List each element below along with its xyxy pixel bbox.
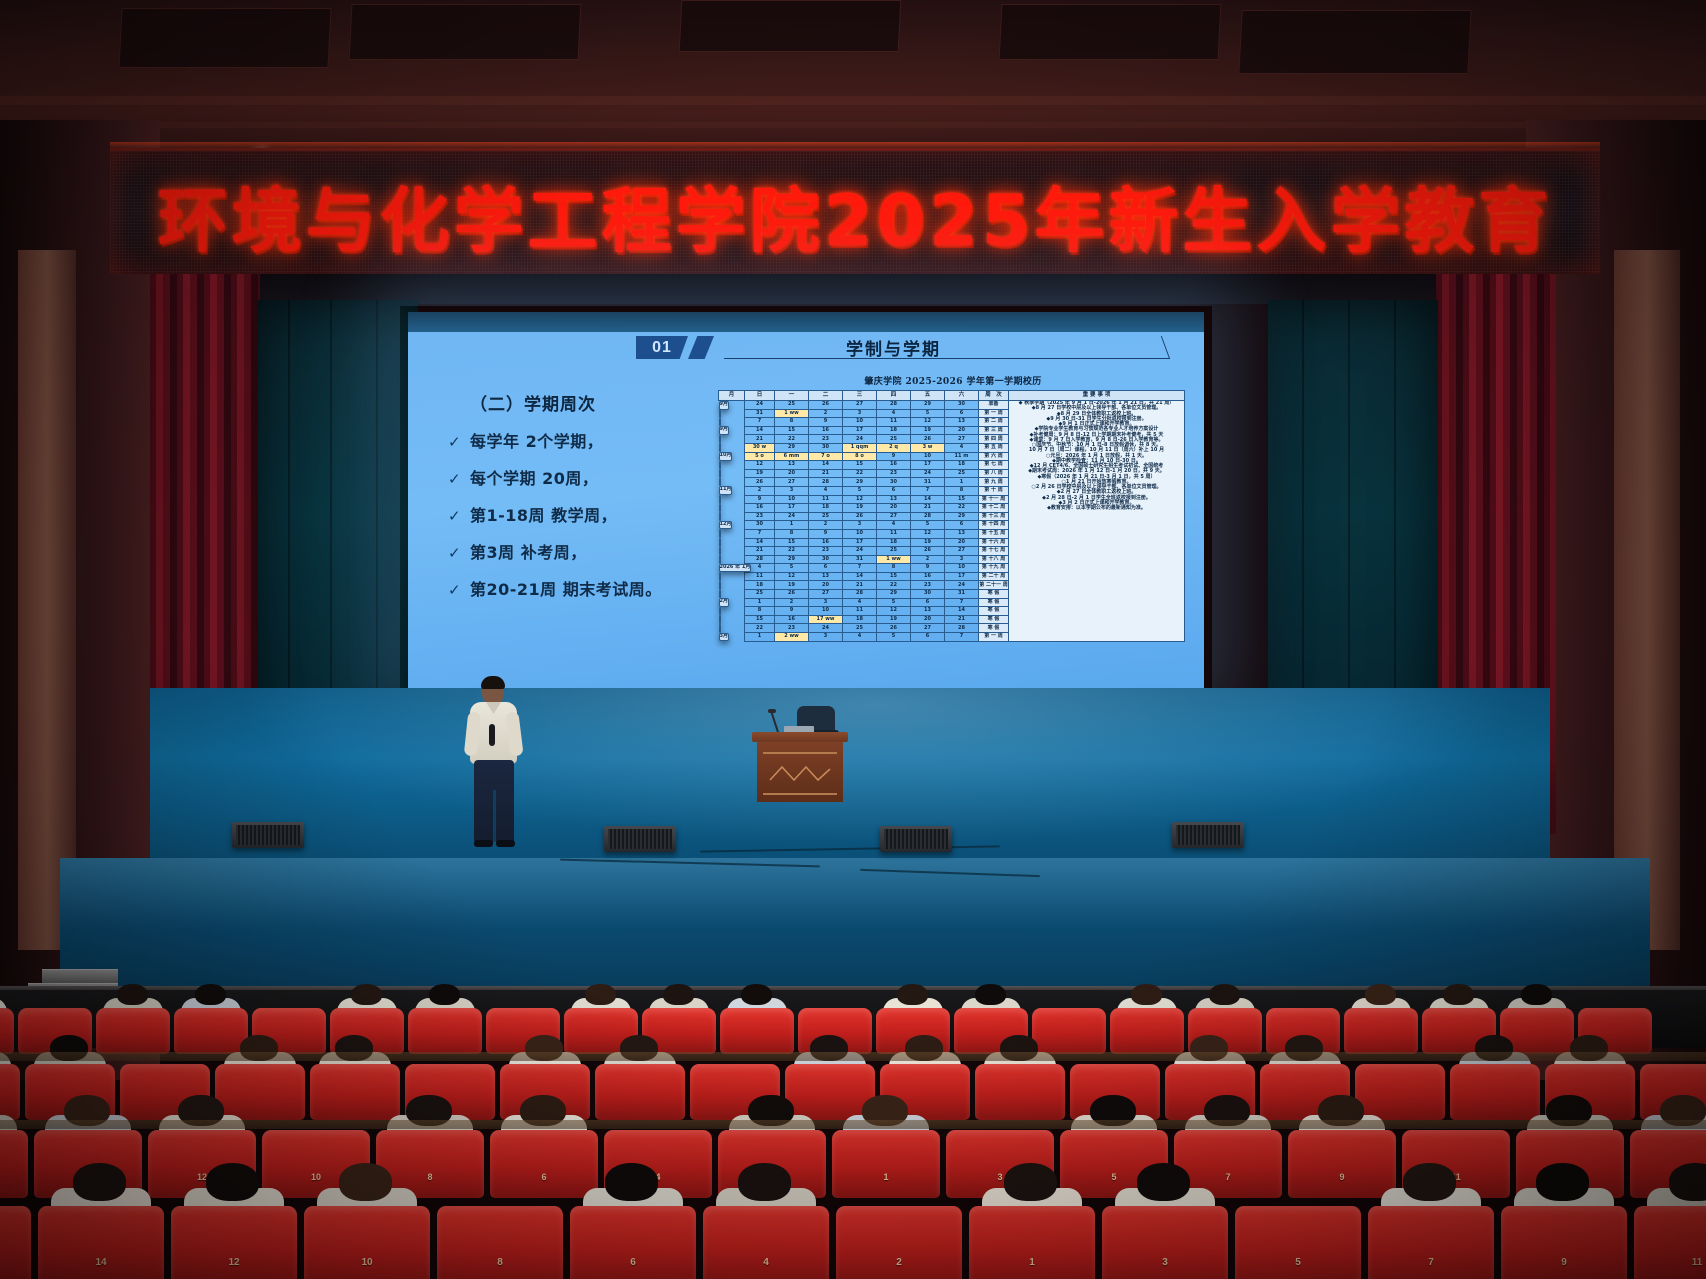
auditorium-seat[interactable]	[1032, 1008, 1106, 1054]
auditorium-seat[interactable]	[408, 1008, 482, 1054]
auditorium-photo: 环境与化学工程学院2025年新生入学教育 01 学制与学期 （二）学期周次 ✓每…	[0, 0, 1706, 1279]
bullet-item: ✓第3周 补考周，	[448, 539, 718, 563]
audience-head	[1365, 984, 1396, 1005]
calendar-month-cell	[719, 469, 721, 478]
calendar-notes-cell: ◆ 秋季学期（2025 年 9 月 1 日-2026 年 1 月 21 日，共 …	[1009, 401, 1185, 642]
stage-light-pool	[150, 688, 1550, 863]
calendar-day-cell: 7	[911, 486, 945, 495]
calendar-week-cell: 第 十七 周	[979, 547, 1009, 556]
auditorium-seat[interactable]	[1501, 1206, 1627, 1279]
calendar-col-header: 日	[745, 391, 775, 401]
slide-header: 01 学制与学期	[636, 334, 1166, 360]
calendar-day-cell: 25	[775, 401, 809, 410]
calendar-day-cell: 6	[911, 633, 945, 642]
calendar-header-row: 月日一二三四五六周 次重 要 事 项	[719, 391, 1185, 401]
calendar-day-cell: 24	[843, 547, 877, 556]
calendar-day-cell: 26	[911, 547, 945, 556]
row-rail	[0, 1052, 1706, 1061]
calendar-day-cell: 27	[775, 478, 809, 487]
seat-number-label: 7	[1368, 1257, 1494, 1268]
calendar-week-cell: 第 十九 周	[979, 564, 1009, 573]
calendar-day-cell: 17 ww	[809, 615, 843, 624]
calendar-day-cell: 23	[809, 547, 843, 556]
calendar-day-cell: 1 ww	[877, 555, 911, 564]
calendar-day-cell: 5	[877, 598, 911, 607]
calendar-day-cell: 11	[745, 572, 775, 581]
auditorium-seat[interactable]	[1235, 1206, 1361, 1279]
calendar-day-cell: 14	[843, 572, 877, 581]
seat-number-label: 8	[376, 1172, 484, 1182]
calendar-day-cell: 27	[945, 435, 979, 444]
calendar-day-cell: 31	[911, 478, 945, 487]
calendar-day-cell: 30 w	[745, 443, 775, 452]
calendar-day-cell: 5	[911, 521, 945, 530]
banner-title-text: 环境与化学工程学院2025年新生入学教育	[110, 165, 1600, 266]
auditorium-seat[interactable]	[975, 1064, 1065, 1120]
calendar-day-cell: 16	[745, 504, 775, 513]
calendar-week-cell: 第 十三 周	[979, 512, 1009, 521]
calendar-day-cell: 12	[911, 529, 945, 538]
calendar-day-cell: 21	[745, 435, 775, 444]
calendar-col-header: 三	[843, 391, 877, 401]
seat-number-label: 2	[836, 1257, 962, 1268]
calendar-day-cell: 6	[877, 486, 911, 495]
calendar-day-cell: 18	[877, 426, 911, 435]
auditorium-seat[interactable]	[969, 1206, 1095, 1279]
calendar-day-cell: 26	[911, 435, 945, 444]
calendar-day-cell: 25	[809, 512, 843, 521]
auditorium-seat[interactable]	[720, 1008, 794, 1054]
calendar-row: 9月24252627282930准备◆ 秋季学期（2025 年 9 月 1 日-…	[719, 401, 1185, 410]
calendar-week-cell: 寒 假	[979, 598, 1009, 607]
seat-number-label: 12	[171, 1257, 297, 1268]
audience-head	[429, 984, 460, 1005]
calendar-day-cell: 12	[745, 461, 775, 470]
seat-number-label: 14	[38, 1257, 164, 1268]
check-icon: ✓	[448, 433, 470, 451]
seat-number-label: 4	[703, 1257, 829, 1268]
calendar-day-cell: 7	[745, 529, 775, 538]
handheld-microphone	[489, 724, 495, 746]
seat-number-label: 3	[1102, 1257, 1228, 1268]
bullet-text: 第3周 补考周，	[470, 539, 587, 563]
calendar-day-cell: 30	[911, 590, 945, 599]
calendar-day-cell: 18	[809, 504, 843, 513]
calendar-week-cell: 寒 假	[979, 615, 1009, 624]
calendar-day-cell: 14	[911, 495, 945, 504]
calendar-month-cell: 9月	[719, 426, 729, 435]
audience-head	[206, 1163, 259, 1201]
calendar-col-header: 五	[911, 391, 945, 401]
calendar-note-line: ◆教育安排：以本学期公布的最新通知为准。	[1009, 506, 1184, 511]
auditorium-seat[interactable]	[570, 1206, 696, 1279]
calendar-day-cell: 12	[775, 572, 809, 581]
calendar-month-cell	[719, 624, 721, 633]
calendar-week-cell: 第 十 周	[979, 486, 1009, 495]
calendar-day-cell: 19	[911, 426, 945, 435]
bullet-item: ✓第20-21周 期末考试周。	[448, 576, 718, 600]
calendar-day-cell: 24	[745, 401, 775, 410]
calendar-day-cell: 4	[843, 633, 877, 642]
calendar-day-cell: 7	[945, 598, 979, 607]
calendar-day-cell: 4	[843, 598, 877, 607]
calendar-day-cell: 20	[877, 504, 911, 513]
auditorium-seat[interactable]	[1288, 1130, 1396, 1198]
bullet-text: 每个学期 20周，	[470, 465, 598, 489]
presenter-hair	[481, 676, 505, 689]
calendar-week-cell: 第 十四 周	[979, 521, 1009, 530]
stage-monitor	[1172, 822, 1244, 848]
calendar-day-cell: 26	[745, 478, 775, 487]
calendar-col-header: 四	[877, 391, 911, 401]
calendar-day-cell: 21	[945, 615, 979, 624]
calendar-day-cell: 21	[809, 469, 843, 478]
calendar-day-cell: 1	[745, 633, 775, 642]
seat-number-label: 11	[1634, 1257, 1706, 1268]
calendar-day-cell: 27	[843, 401, 877, 410]
calendar-month-cell	[719, 409, 721, 418]
calendar-day-cell: 25	[745, 590, 775, 599]
calendar-day-cell: 17	[843, 538, 877, 547]
calendar-day-cell: 15	[775, 426, 809, 435]
calendar-day-cell: 25	[843, 624, 877, 633]
presenter-shoe	[496, 840, 515, 847]
calendar-week-cell: 第 四 周	[979, 435, 1009, 444]
auditorium-seat[interactable]	[1355, 1064, 1445, 1120]
calendar-day-cell: 26	[775, 590, 809, 599]
calendar-day-cell: 20	[911, 615, 945, 624]
audience-head	[1521, 984, 1552, 1005]
calendar-day-cell: 9	[809, 529, 843, 538]
calendar-month-cell	[719, 478, 721, 487]
calendar-day-cell: 15	[843, 461, 877, 470]
calendar-day-cell: 20	[809, 581, 843, 590]
calendar-day-cell: 4	[809, 486, 843, 495]
calendar-month-cell	[719, 590, 721, 599]
calendar-day-cell: 1	[945, 478, 979, 487]
calendar-day-cell: 30	[877, 478, 911, 487]
calendar-day-cell: 27	[809, 590, 843, 599]
auditorium-seat[interactable]	[0, 1008, 14, 1054]
calendar-day-cell: 28	[843, 590, 877, 599]
calendar-week-cell: 第 三 周	[979, 426, 1009, 435]
seat-number-label: 1	[969, 1257, 1095, 1268]
audience-seating: 1614121086421357911131616141210864213579…	[0, 1000, 1706, 1279]
calendar-day-cell: 19	[745, 469, 775, 478]
calendar-day-cell: 10	[843, 418, 877, 427]
calendar-day-cell: 8	[775, 529, 809, 538]
calendar-day-cell: 3 w	[911, 443, 945, 452]
calendar-day-cell: 6	[945, 409, 979, 418]
calendar-day-cell: 20	[945, 538, 979, 547]
calendar-day-cell: 22	[843, 469, 877, 478]
calendar-day-cell: 18	[843, 615, 877, 624]
wall-column-left	[18, 250, 76, 950]
header-rule	[716, 336, 1170, 359]
calendar-col-header: 周 次	[979, 391, 1009, 401]
seat-number-label: 16	[0, 1257, 31, 1268]
calendar-day-cell: 6	[911, 598, 945, 607]
auditorium-seat[interactable]	[38, 1206, 164, 1279]
calendar-day-cell: 17	[843, 426, 877, 435]
calendar-day-cell: 20	[775, 469, 809, 478]
audience-head	[975, 984, 1006, 1005]
calendar-day-cell: 19	[843, 504, 877, 513]
auditorium-seat[interactable]	[96, 1008, 170, 1054]
calendar-day-cell: 14	[745, 538, 775, 547]
calendar-day-cell: 15	[775, 538, 809, 547]
auditorium-seat[interactable]	[1102, 1206, 1228, 1279]
calendar-day-cell: 10	[911, 452, 945, 461]
audience-head	[663, 984, 694, 1005]
calendar-col-header: 六	[945, 391, 979, 401]
calendar-day-cell: 3	[809, 633, 843, 642]
presenter-shoe	[474, 840, 493, 847]
calendar-title: 肇庆学院 2025-2026 学年第一学期校历	[718, 374, 1188, 387]
calendar-week-cell: 寒 假	[979, 607, 1009, 616]
calendar-day-cell: 19	[775, 581, 809, 590]
calendar-day-cell: 24	[945, 581, 979, 590]
auditorium-seat[interactable]	[1344, 1008, 1418, 1054]
calendar-day-cell: 8 o	[843, 452, 877, 461]
calendar-col-header: 重 要 事 项	[1009, 391, 1185, 401]
calendar-day-cell: 11	[877, 529, 911, 538]
auditorium-seat[interactable]	[836, 1206, 962, 1279]
calendar-month-cell	[719, 615, 721, 624]
calendar-day-cell: 13	[911, 607, 945, 616]
calendar-day-cell: 12	[911, 418, 945, 427]
calendar-day-cell: 25	[877, 435, 911, 444]
auditorium-seat[interactable]	[595, 1064, 685, 1120]
calendar-day-cell: 15	[877, 572, 911, 581]
calendar-day-cell: 5	[911, 409, 945, 418]
academic-calendar: 肇庆学院 2025-2026 学年第一学期校历 月日一二三四五六周 次重 要 事…	[718, 374, 1188, 642]
header-slash	[688, 336, 714, 359]
calendar-day-cell: 29	[843, 478, 877, 487]
wall-column-right	[1614, 250, 1680, 950]
calendar-day-cell: 23	[775, 624, 809, 633]
calendar-day-cell: 15	[945, 495, 979, 504]
calendar-day-cell: 17	[911, 461, 945, 470]
calendar-day-cell: 8	[775, 418, 809, 427]
audience-head	[1131, 984, 1162, 1005]
auditorium-seat[interactable]	[310, 1064, 400, 1120]
auditorium-seat[interactable]	[304, 1206, 430, 1279]
calendar-day-cell: 6 mm	[775, 452, 809, 461]
audience-head	[117, 984, 148, 1005]
calendar-day-cell: 30	[745, 521, 775, 530]
calendar-day-cell: 24	[775, 512, 809, 521]
calendar-day-cell: 7	[843, 564, 877, 573]
calendar-day-cell: 18	[877, 538, 911, 547]
projection-screen: 01 学制与学期 （二）学期周次 ✓每学年 2个学期，✓每个学期 20周，✓第1…	[408, 312, 1204, 688]
calendar-day-cell: 11 m	[945, 452, 979, 461]
calendar-week-cell: 第 八 周	[979, 469, 1009, 478]
calendar-day-cell: 5	[843, 486, 877, 495]
calendar-day-cell: 26	[809, 401, 843, 410]
calendar-week-cell: 准备	[979, 401, 1009, 410]
calendar-day-cell: 16	[809, 538, 843, 547]
calendar-month-cell	[719, 607, 721, 616]
auditorium-seat[interactable]	[490, 1130, 598, 1198]
calendar-month-cell	[719, 435, 721, 444]
calendar-day-cell: 16	[911, 572, 945, 581]
stage-monitor	[232, 822, 304, 848]
calendar-month-cell	[719, 538, 721, 547]
calendar-day-cell: 29	[775, 555, 809, 564]
auditorium-seat[interactable]	[1110, 1008, 1184, 1054]
calendar-week-cell: 第 九 周	[979, 478, 1009, 487]
check-icon: ✓	[448, 544, 470, 562]
calendar-month-cell	[719, 461, 721, 470]
check-icon: ✓	[448, 470, 470, 488]
calendar-day-cell: 23	[809, 435, 843, 444]
calendar-day-cell: 30	[809, 443, 843, 452]
calendar-month-cell	[719, 529, 721, 538]
seat-number-label: 6	[570, 1257, 696, 1268]
audience-head	[339, 1163, 392, 1201]
calendar-day-cell: 12	[877, 607, 911, 616]
calendar-day-cell: 3	[945, 555, 979, 564]
auditorium-seat[interactable]	[215, 1064, 305, 1120]
audience-head	[195, 984, 226, 1005]
calendar-day-cell: 11	[843, 607, 877, 616]
calendar-col-header: 月	[719, 391, 745, 401]
calendar-day-cell: 3	[775, 486, 809, 495]
calendar-day-cell: 30	[945, 401, 979, 410]
calendar-day-cell: 23	[877, 469, 911, 478]
calendar-day-cell: 17	[775, 504, 809, 513]
calendar-day-cell: 9	[809, 418, 843, 427]
auditorium-seat[interactable]	[0, 1130, 28, 1198]
auditorium-seat[interactable]	[437, 1206, 563, 1279]
calendar-day-cell: 1 qqm	[843, 443, 877, 452]
audience-head	[1669, 1163, 1706, 1201]
calendar-week-cell: 第 十一 周	[979, 495, 1009, 504]
calendar-week-cell: 第 七 周	[979, 461, 1009, 470]
auditorium-seat[interactable]	[1368, 1206, 1494, 1279]
podium-emblem	[768, 764, 832, 782]
calendar-day-cell: 3	[843, 409, 877, 418]
calendar-day-cell: 22	[877, 581, 911, 590]
calendar-day-cell: 10	[843, 529, 877, 538]
calendar-month-cell: 3月	[719, 633, 729, 642]
calendar-day-cell: 1	[745, 598, 775, 607]
calendar-day-cell: 28	[877, 401, 911, 410]
calendar-day-cell: 5	[775, 564, 809, 573]
seat-number-label: 9	[1288, 1172, 1396, 1182]
calendar-col-header: 一	[775, 391, 809, 401]
audience-head	[1443, 984, 1474, 1005]
calendar-day-cell: 2	[911, 555, 945, 564]
calendar-week-cell: 第 六 周	[979, 452, 1009, 461]
seat-number-label: 9	[1501, 1257, 1627, 1268]
auditorium-seat[interactable]	[0, 1064, 20, 1120]
calendar-day-cell: 5	[877, 633, 911, 642]
led-banner: 环境与化学工程学院2025年新生入学教育	[110, 148, 1600, 274]
auditorium-seat[interactable]	[1634, 1206, 1706, 1279]
seat-number-label: 7	[1174, 1172, 1282, 1182]
calendar-day-cell: 13	[945, 418, 979, 427]
calendar-month-cell	[719, 512, 721, 521]
calendar-day-cell: 2 q	[877, 443, 911, 452]
calendar-day-cell: 28	[745, 555, 775, 564]
auditorium-seat[interactable]	[1450, 1064, 1540, 1120]
audience-head	[741, 984, 772, 1005]
calendar-day-cell: 19	[911, 538, 945, 547]
seat-number-label: 10	[304, 1257, 430, 1268]
calendar-day-cell: 28	[911, 512, 945, 521]
calendar-day-cell: 31	[843, 555, 877, 564]
audience-head	[1004, 1163, 1057, 1201]
calendar-day-cell: 13	[945, 529, 979, 538]
calendar-day-cell: 22	[945, 504, 979, 513]
screen-top-shadow	[408, 312, 1204, 332]
auditorium-seat[interactable]	[832, 1130, 940, 1198]
auditorium-seat[interactable]	[174, 1008, 248, 1054]
calendar-day-cell: 21	[745, 547, 775, 556]
row-rail	[0, 1120, 1706, 1129]
calendar-day-cell: 22	[775, 435, 809, 444]
calendar-day-cell: 21	[843, 581, 877, 590]
calendar-day-cell: 27	[911, 624, 945, 633]
calendar-week-cell: 第 十六 周	[979, 538, 1009, 547]
calendar-day-cell: 23	[745, 512, 775, 521]
calendar-day-cell: 26	[843, 512, 877, 521]
calendar-day-cell: 14	[745, 426, 775, 435]
calendar-day-cell: 11	[809, 495, 843, 504]
calendar-week-cell: 寒 假	[979, 624, 1009, 633]
auditorium-seat[interactable]	[171, 1206, 297, 1279]
audience-head	[585, 984, 616, 1005]
calendar-day-cell: 15	[745, 615, 775, 624]
calendar-day-cell: 19	[877, 615, 911, 624]
calendar-week-cell: 第 十二 周	[979, 504, 1009, 513]
calendar-day-cell: 18	[745, 581, 775, 590]
stage-monitor	[604, 826, 676, 852]
calendar-week-cell: 第 十八 周	[979, 555, 1009, 564]
calendar-day-cell: 2 ww	[775, 633, 809, 642]
bullet-item: ✓第1-18周 教学周，	[448, 502, 718, 526]
calendar-month-cell: 11月	[719, 486, 733, 495]
calendar-day-cell: 3	[809, 598, 843, 607]
calendar-day-cell: 14	[945, 607, 979, 616]
calendar-day-cell: 24	[843, 435, 877, 444]
calendar-day-cell: 26	[877, 624, 911, 633]
audience-head	[605, 1163, 658, 1201]
calendar-day-cell: 29	[877, 590, 911, 599]
calendar-day-cell: 10	[809, 607, 843, 616]
calendar-month-cell	[719, 418, 721, 427]
calendar-day-cell: 9	[911, 564, 945, 573]
bullet-item: ✓每学年 2个学期，	[448, 428, 718, 452]
calendar-month-cell	[719, 572, 721, 581]
calendar-week-cell: 第 二十一 周	[979, 581, 1009, 590]
calendar-month-cell: 2026 年 1月	[719, 564, 752, 573]
auditorium-seat[interactable]	[703, 1206, 829, 1279]
calendar-day-cell: 25	[945, 469, 979, 478]
calendar-day-cell: 27	[877, 512, 911, 521]
slide-bullet-list: （二）学期周次 ✓每学年 2个学期，✓每个学期 20周，✓第1-18周 教学周，…	[448, 390, 718, 613]
calendar-day-cell: 4	[877, 409, 911, 418]
audience-head	[1403, 1163, 1456, 1201]
calendar-day-cell: 2	[775, 598, 809, 607]
calendar-month-cell: 12月	[719, 521, 733, 530]
bullet-text: 每学年 2个学期，	[470, 428, 603, 452]
auditorium-seat[interactable]	[0, 1206, 31, 1279]
calendar-day-cell: 16	[877, 461, 911, 470]
calendar-day-cell: 8	[877, 564, 911, 573]
